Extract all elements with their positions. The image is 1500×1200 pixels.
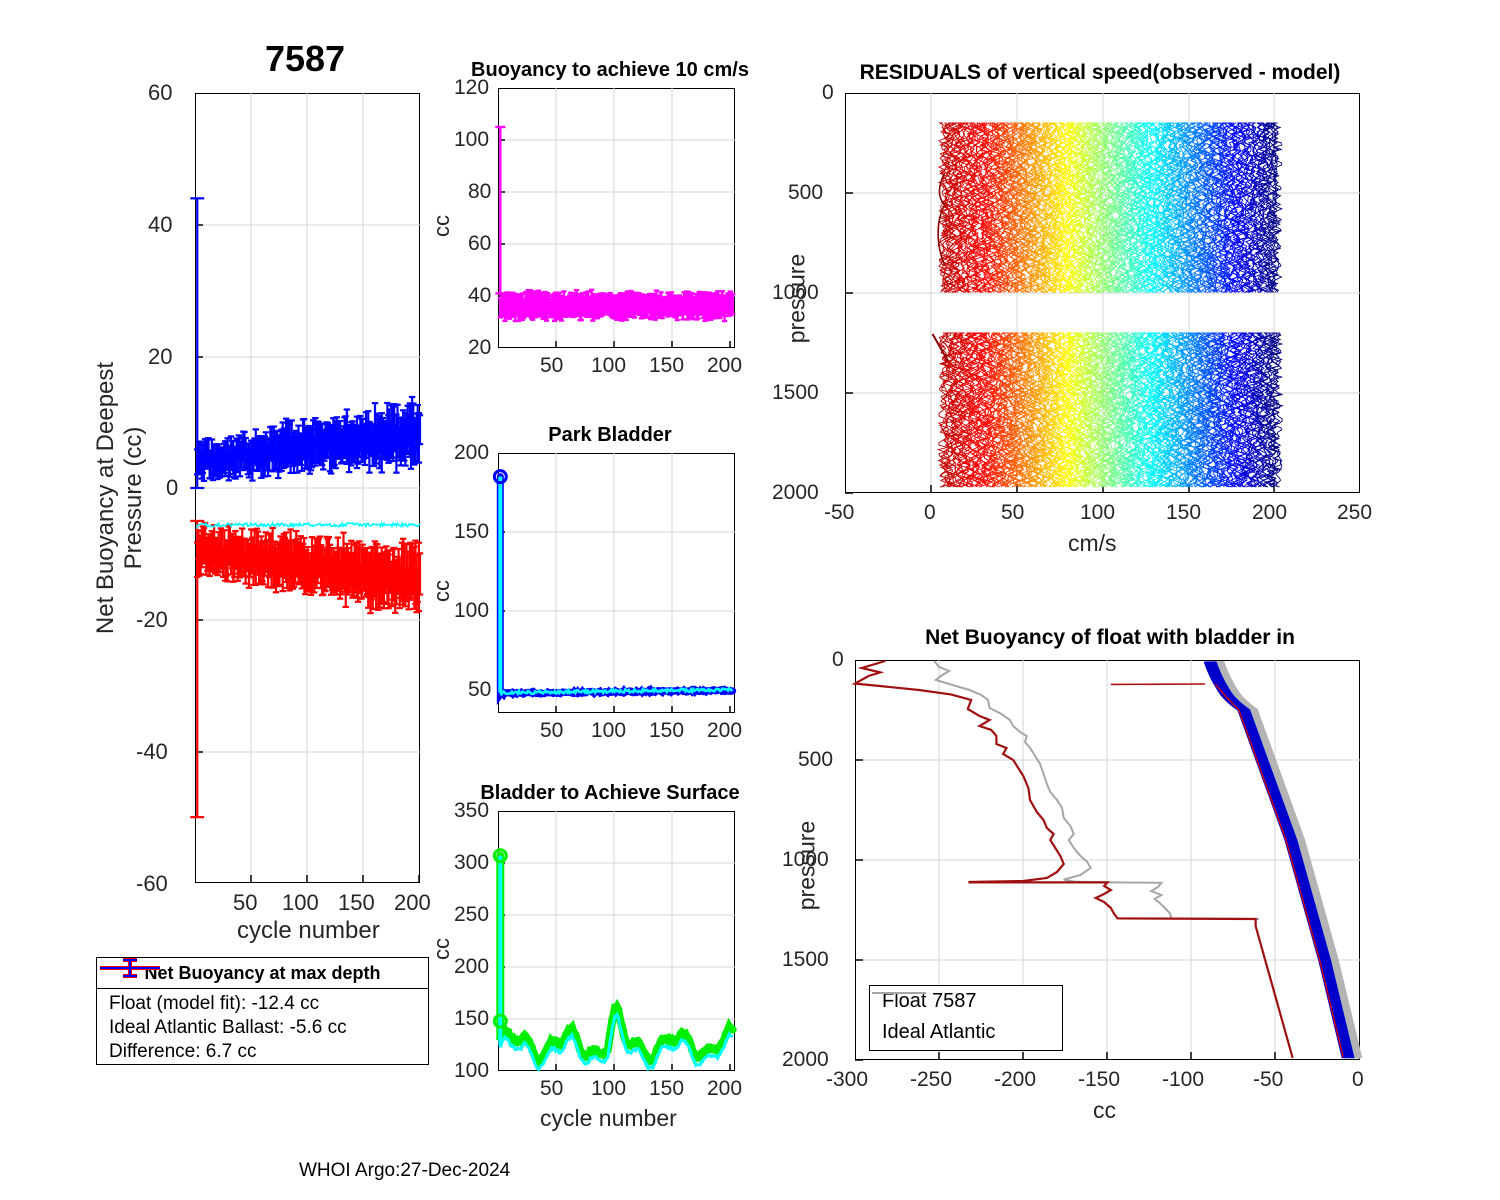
xtick-100: 100 (282, 890, 319, 916)
ytick-20: 20 (148, 344, 172, 370)
ytick-b-100: 100 (454, 128, 489, 152)
ytick-40: 40 (148, 212, 172, 238)
ytick-b-120: 120 (454, 76, 489, 100)
ytick-r-500: 500 (788, 181, 823, 205)
ytick-s-250: 250 (454, 903, 489, 927)
xtick-s-100: 100 (591, 1077, 626, 1101)
xtick-s-150: 150 (649, 1077, 684, 1101)
xtick-r-100: 100 (1080, 501, 1115, 525)
legend-label-idealatlantic: Ideal Atlantic (882, 1021, 995, 1044)
xtick-p-100: 100 (591, 719, 626, 743)
xtick-b-50: 50 (540, 354, 563, 378)
legend-label-ideal: Ideal Atlantic Ballast: -5.6 cc (109, 1017, 347, 1039)
xtick-b-200: 200 (707, 354, 742, 378)
ytick-n-500: 500 (798, 748, 833, 772)
ytick-s-150: 150 (454, 1007, 489, 1031)
xtick-s-50: 50 (540, 1077, 563, 1101)
legend-label-float: Float (model fit): -12.4 cc (109, 993, 319, 1015)
xtick-200: 200 (394, 890, 431, 916)
yaxis-label-park: cc (429, 541, 455, 641)
xtick-p-50: 50 (540, 719, 563, 743)
plot-canvas-main (0, 0, 460, 960)
yaxis-label-residuals: pressure (784, 204, 811, 394)
ytick-p-200: 200 (454, 441, 489, 465)
ytick-p-50: 50 (468, 678, 491, 702)
xtick-r-50: 50 (1001, 501, 1024, 525)
ytick-r-0: 0 (822, 81, 834, 105)
panel-net-buoyancy-bladder: Net Buoyancy of float with bladder in 0 … (790, 620, 1410, 1140)
legend-item-ideal: Ideal Atlantic Ballast: -5.6 cc (105, 1016, 428, 1040)
ytick-s-300: 300 (454, 851, 489, 875)
footer-text: WHOI Argo:27-Dec-2024 (299, 1160, 510, 1182)
ytick-neg60: -60 (136, 871, 168, 897)
ytick-r-2000: 2000 (772, 481, 819, 505)
xtick-p-200: 200 (707, 719, 742, 743)
xtick-b-100: 100 (591, 354, 626, 378)
ytick-p-100: 100 (454, 599, 489, 623)
legend-net-buoyancy: Net Buoyancy at max depth Float (model f… (96, 957, 429, 1065)
xtick-r-150: 150 (1166, 501, 1201, 525)
panel-park-bladder: Park Bladder 200 150 100 50 50 100 150 2… (430, 420, 790, 750)
xtick-50: 50 (233, 890, 257, 916)
yaxis-label-surface: cc (429, 899, 455, 999)
plot-canvas-residuals (780, 55, 1400, 575)
ytick-b-20: 20 (468, 336, 491, 360)
ytick-0: 0 (166, 475, 178, 501)
legend-item-idealatlantic: Ideal Atlantic (870, 1017, 1062, 1048)
xtick-r-neg50: -50 (824, 501, 854, 525)
xaxis-label-main: cycle number (237, 917, 380, 945)
panel-residuals: RESIDUALS of vertical speed(observed - m… (780, 55, 1400, 575)
xtick-n-neg200: -200 (994, 1068, 1036, 1092)
xtick-s-200: 200 (707, 1077, 742, 1101)
xaxis-label-profile: cc (1093, 1097, 1116, 1124)
xtick-p-150: 150 (649, 719, 684, 743)
ytick-s-200: 200 (454, 955, 489, 979)
plot-canvas-profile (790, 620, 1410, 1140)
ytick-p-150: 150 (454, 520, 489, 544)
panel-buoyancy-10cms: Buoyancy to achieve 10 cm/s 120 100 80 6… (430, 55, 790, 385)
ytick-60: 60 (148, 80, 172, 106)
xtick-r-200: 200 (1252, 501, 1287, 525)
xaxis-label-surface: cycle number (540, 1105, 677, 1132)
panel-net-buoyancy-deepest: 60 40 20 0 -20 -40 -60 50 100 150 200 cy… (0, 0, 460, 960)
legend-swatch-idealatlantic (870, 986, 928, 1000)
ytick-n-2000: 2000 (782, 1048, 829, 1072)
legend-item-difference: Difference: 6.7 cc (105, 1040, 428, 1064)
xtick-n-neg100: -100 (1162, 1068, 1204, 1092)
ytick-b-80: 80 (468, 180, 491, 204)
ytick-s-350: 350 (454, 799, 489, 823)
xtick-n-neg50: -50 (1253, 1068, 1283, 1092)
xtick-n-neg150: -150 (1078, 1068, 1120, 1092)
ytick-n-0: 0 (832, 648, 844, 672)
xtick-n-0: 0 (1352, 1068, 1364, 1092)
xtick-r-250: 250 (1337, 501, 1372, 525)
xaxis-label-residuals: cm/s (1068, 530, 1117, 557)
ytick-neg40: -40 (136, 739, 168, 765)
xtick-n-neg300: -300 (826, 1068, 868, 1092)
yaxis-label-buoyancy: cc (429, 176, 455, 276)
yaxis-label-profile: pressure (794, 771, 821, 961)
xtick-n-neg250: -250 (910, 1068, 952, 1092)
legend-label-difference: Difference: 6.7 cc (109, 1041, 257, 1063)
ytick-b-60: 60 (468, 232, 491, 256)
ytick-b-40: 40 (468, 284, 491, 308)
legend-swatch-errorbar-blue (97, 958, 163, 978)
panel-bladder-surface: Bladder to Achieve Surface 350 300 250 2… (430, 778, 790, 1138)
yaxis-label-main: Net Buoyancy at Deepest Pressure (cc) (92, 318, 148, 678)
xtick-r-0: 0 (924, 501, 936, 525)
legend-profile: Float 7587 Ideal Atlantic (869, 985, 1063, 1051)
xtick-150: 150 (338, 890, 375, 916)
ytick-s-100: 100 (454, 1059, 489, 1083)
xtick-b-150: 150 (649, 354, 684, 378)
legend-item-float: Float (model fit): -12.4 cc (105, 992, 428, 1016)
